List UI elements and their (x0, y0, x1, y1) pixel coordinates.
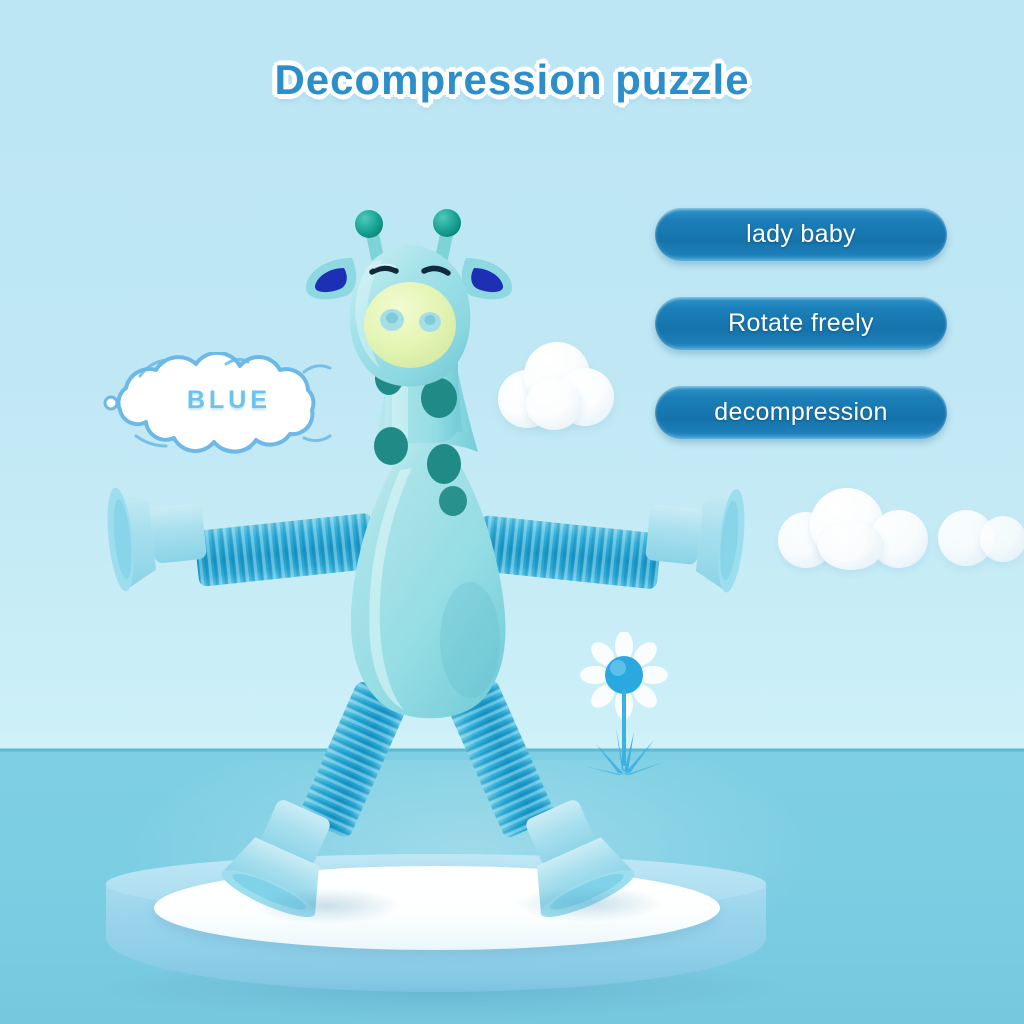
giraffe-ear-left (306, 258, 356, 299)
right-foot-shadow (514, 886, 664, 922)
giraffe-left-arm[interactable] (103, 479, 376, 592)
giraffe-head[interactable] (306, 209, 512, 387)
giraffe-ear-right (462, 258, 512, 299)
giraffe-right-arm[interactable] (475, 480, 748, 593)
giraffe-toy[interactable] (0, 0, 1024, 1024)
left-foot-shadow (252, 888, 402, 924)
product-poster: Decompression puzzle lady baby Rotate fr… (0, 0, 1024, 1024)
giraffe-muzzle (364, 282, 456, 368)
